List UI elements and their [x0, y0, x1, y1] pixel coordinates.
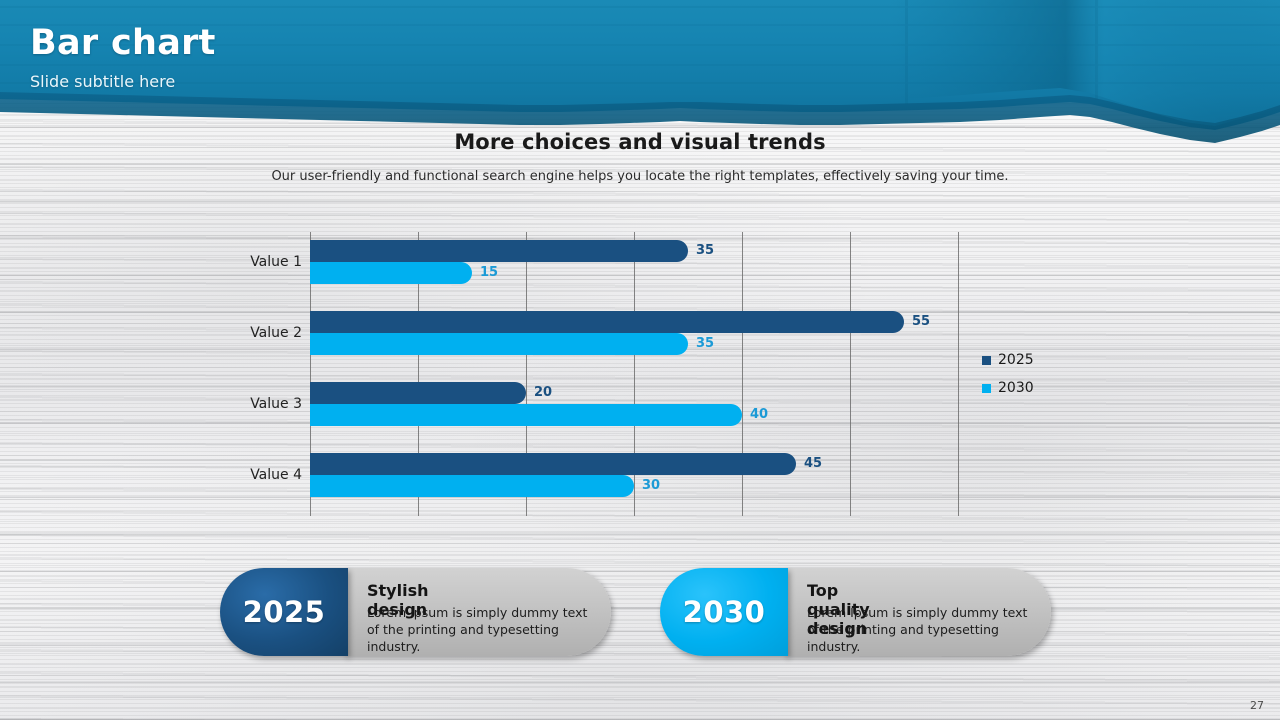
callout-text: Lorem Ipsum is simply dummy text of the … [807, 604, 1042, 655]
header-text-block: Bar chart Slide subtitle here [30, 22, 216, 92]
chart-legend: 20252030 [982, 350, 1034, 406]
chart-bar-value: 20 [534, 382, 552, 404]
legend-swatch-icon [982, 384, 991, 393]
chart-bar-value: 55 [912, 311, 930, 333]
chart-category-label: Value 3 [230, 396, 302, 412]
chart-bar-value: 30 [642, 475, 660, 497]
callout-badge-number: 2025 [243, 595, 326, 629]
chart-bar [310, 262, 472, 284]
chart-category-label: Value 1 [230, 254, 302, 270]
slide: Bar chart Slide subtitle here More choic… [0, 0, 1280, 720]
slide-subtitle: Slide subtitle here [30, 72, 216, 92]
chart-bar [310, 333, 688, 355]
legend-label: 2030 [998, 380, 1034, 396]
section-title: More choices and visual trends [0, 130, 1280, 154]
callout-badge: 2025 [220, 568, 348, 656]
chart-gridline [958, 232, 959, 516]
legend-item[interactable]: 2030 [982, 378, 1034, 398]
callout-text: Lorem Ipsum is simply dummy text of the … [367, 604, 602, 655]
chart-bar [310, 453, 796, 475]
bar-chart: 3515553520404530 Value 1Value 2Value 3Va… [230, 228, 970, 518]
chart-bar-value: 35 [696, 240, 714, 262]
callout-badge-number: 2030 [683, 595, 766, 629]
slide-header: Bar chart Slide subtitle here [0, 0, 1280, 150]
slide-title: Bar chart [30, 22, 216, 64]
chart-bar-value: 40 [750, 404, 768, 426]
chart-bar [310, 240, 688, 262]
legend-label: 2025 [998, 352, 1034, 368]
chart-bar [310, 311, 904, 333]
chart-bar-value: 35 [696, 333, 714, 355]
legend-item[interactable]: 2025 [982, 350, 1034, 370]
legend-swatch-icon [982, 356, 991, 365]
chart-bar [310, 404, 742, 426]
page-number: 27 [1250, 699, 1264, 712]
chart-category-label: Value 2 [230, 325, 302, 341]
chart-bar-value: 45 [804, 453, 822, 475]
chart-gridline [850, 232, 851, 516]
chart-plot-area: 3515553520404530 [310, 232, 958, 516]
section-subtitle: Our user-friendly and functional search … [0, 169, 1280, 184]
chart-bar [310, 475, 634, 497]
chart-bar [310, 382, 526, 404]
chart-bar-value: 15 [480, 262, 498, 284]
chart-category-label: Value 4 [230, 467, 302, 483]
callout-badge: 2030 [660, 568, 788, 656]
